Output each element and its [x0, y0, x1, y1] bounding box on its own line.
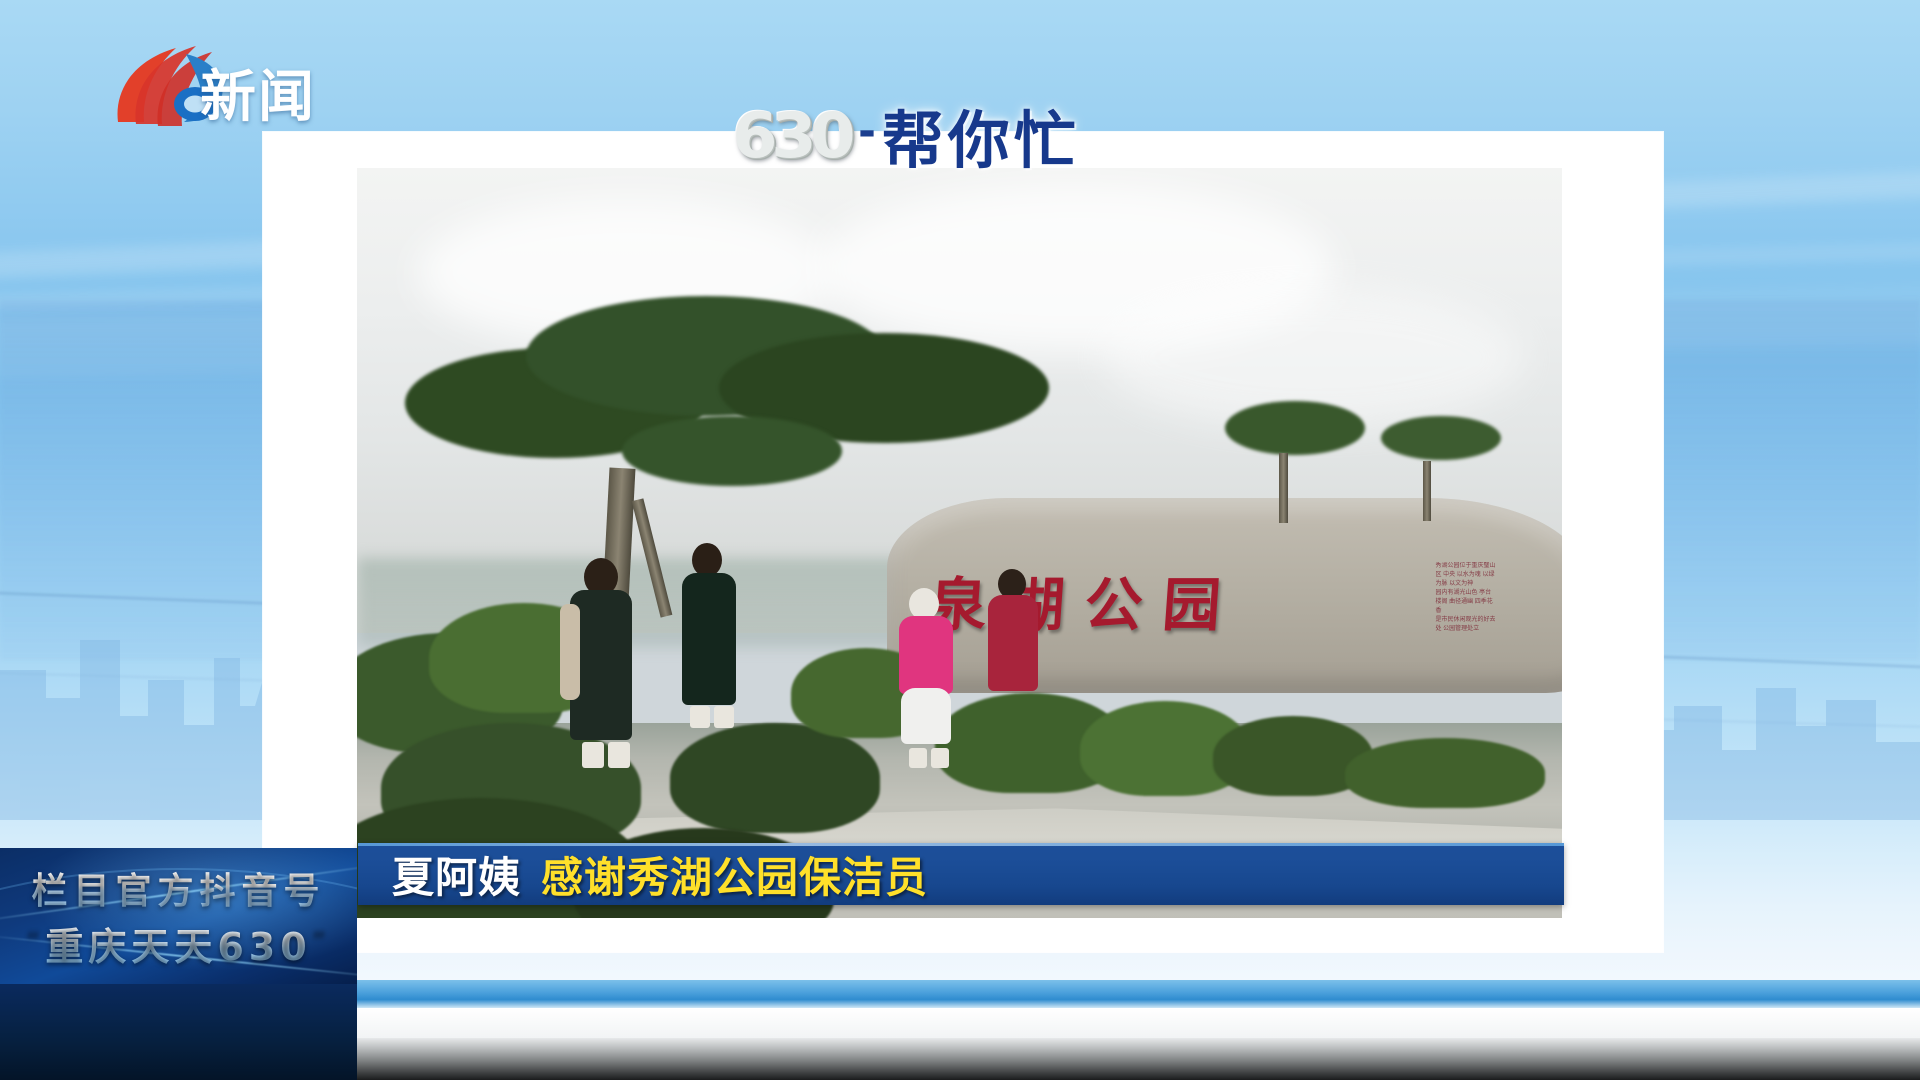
photo-tree-trunk	[1423, 461, 1431, 521]
monument-carved-text: 泉湖公园	[926, 558, 1244, 642]
photo-tree-canopy	[622, 416, 842, 486]
bottom-white-strip	[357, 1008, 1920, 1038]
monument-side-inscription: 秀湖公园位于重庆璧山区 中央 以水为魂 以绿为脉 以文为神 园内有湖光山色 亭台…	[1435, 562, 1495, 654]
program-segment-name: 帮你忙	[882, 90, 1080, 180]
bottom-left-fill	[0, 984, 357, 1080]
quote-open: “	[26, 927, 45, 952]
photo-tree-canopy	[1381, 416, 1501, 460]
photo-person	[978, 569, 1050, 719]
douyin-account-badge: 栏目官方抖音号 “重庆天天630”	[0, 848, 357, 984]
program-logo: 630 - 帮你忙	[735, 95, 1080, 175]
photo-person	[887, 588, 965, 768]
photo-bush	[1345, 738, 1545, 808]
quote-close: ”	[312, 927, 331, 952]
bottom-blue-strip	[357, 980, 1920, 1008]
lower-third-speaker: 夏阿姨	[392, 844, 521, 905]
photo-tree-canopy	[1225, 401, 1365, 455]
douyin-badge-line1: 栏目官方抖音号	[0, 862, 357, 914]
lower-third-title-bar: 夏阿姨 感谢秀湖公园保洁员	[358, 843, 1564, 905]
news-photo: 泉湖公园 秀湖公园位于重庆璧山区 中央 以水为魂 以绿为脉 以文为神 园内有湖光…	[357, 168, 1562, 918]
photo-bush	[670, 723, 880, 833]
photo-person	[556, 558, 646, 768]
douyin-account-name: 重庆天天630	[45, 925, 311, 969]
broadcast-stage: 泉湖公园 秀湖公园位于重庆璧山区 中央 以水为魂 以绿为脉 以文为神 园内有湖光…	[0, 0, 1920, 1080]
photo-person	[670, 543, 750, 728]
douyin-badge-line2: “重庆天天630”	[0, 916, 357, 971]
program-logo-dash: -	[858, 100, 875, 160]
lower-third-headline: 感谢秀湖公园保洁员	[541, 844, 928, 905]
photo-tree-trunk	[1279, 453, 1288, 523]
bottom-dark-strip	[357, 1038, 1920, 1080]
program-number-logo: 630	[732, 99, 849, 172]
channel-name: 新闻	[200, 52, 316, 133]
